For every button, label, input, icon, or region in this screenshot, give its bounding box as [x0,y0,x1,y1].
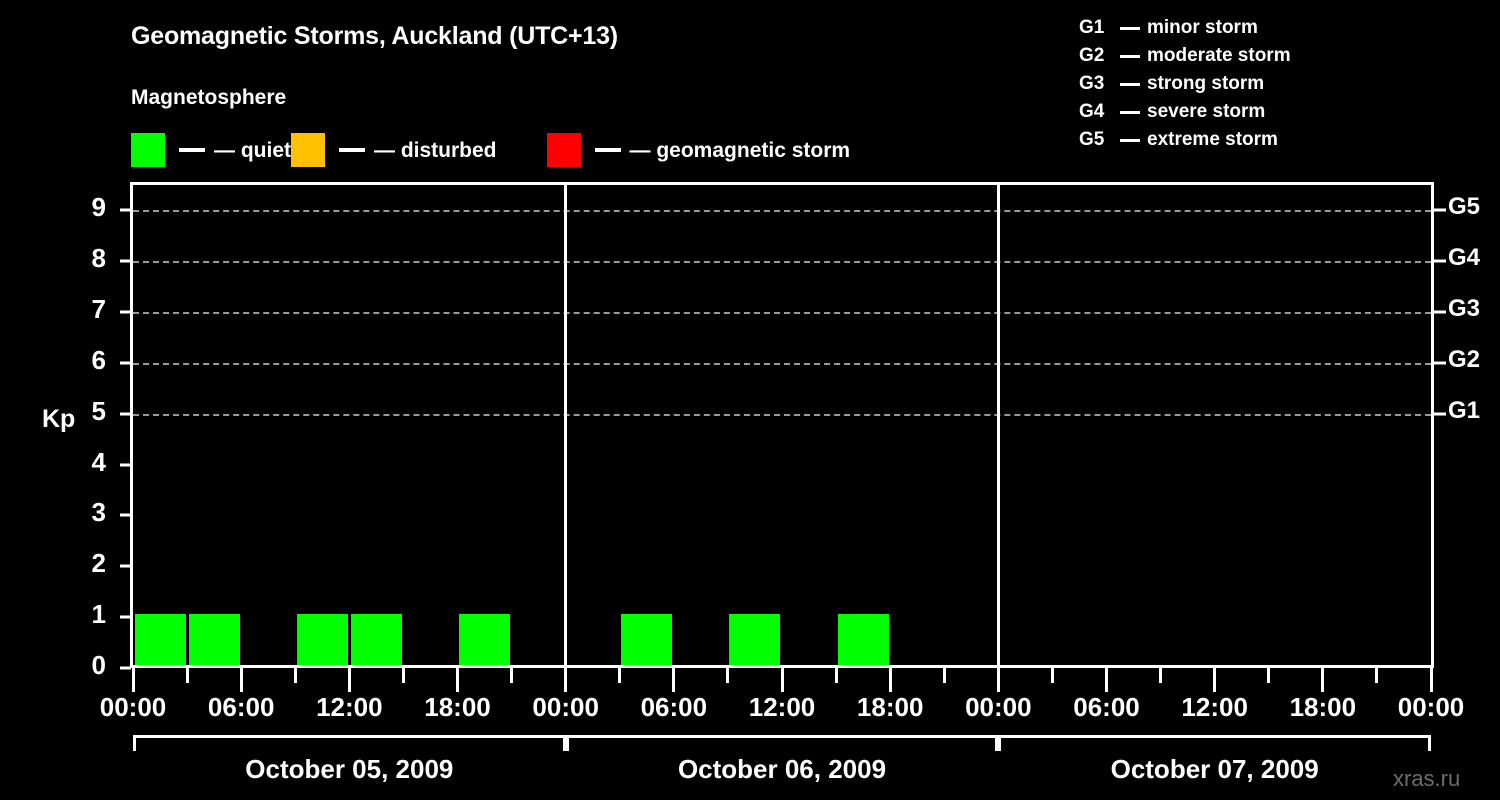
x-tick-label: 00:00 [1398,692,1465,723]
g-tick-mark [1434,260,1446,263]
day-separator [564,185,567,665]
y-tick-label: 7 [92,296,106,322]
y-tick-mark [120,463,131,466]
y-tick-mark [120,514,131,517]
g-scale-legend: G1 minor storm G2 moderate storm G3 stro… [1079,14,1291,154]
legend-dash-icon [595,148,621,152]
legend-item-quiet: — quiet [131,133,291,167]
legend-label-quiet: — quiet [214,140,291,161]
x-tick-mark [186,668,189,683]
x-tick-label: 12:00 [316,692,383,723]
x-tick-mark [240,668,243,692]
g-scale-row: G3 strong storm [1079,70,1291,98]
g-scale-dash-icon [1120,27,1140,30]
x-tick-mark [1159,668,1162,683]
x-tick-mark [618,668,621,683]
y-tick-mark [120,667,131,670]
y-tick-mark [120,260,131,263]
y-tick-label: 0 [92,652,106,678]
g-scale-desc: severe storm [1147,101,1265,123]
gridline [133,414,1431,416]
g-scale-dash-icon [1120,55,1140,58]
x-tick-mark [564,668,567,692]
x-tick-mark [402,668,405,683]
kp-bar [189,614,240,665]
plot-area [133,185,1431,665]
y-tick-mark [120,412,131,415]
x-tick-mark [781,668,784,692]
x-tick-label: 06:00 [208,692,275,723]
g-tick-label: G1 [1448,399,1480,423]
date-bracket [998,735,1431,751]
x-tick-label: 00:00 [100,692,167,723]
page-title: Geomagnetic Storms, Auckland (UTC+13) [131,22,618,51]
x-tick-label: 18:00 [857,692,924,723]
g-scale-dash-icon [1120,111,1140,114]
x-tick-mark [835,668,838,683]
date-bracket [566,735,999,751]
x-tick-label: 00:00 [532,692,599,723]
date-label: October 06, 2009 [678,754,886,785]
kp-bar [838,614,889,665]
g-scale-desc: minor storm [1147,17,1258,39]
x-tick-mark [510,668,513,683]
g-tick-label: G2 [1448,348,1480,372]
g-scale-desc: extreme storm [1147,129,1278,151]
kp-bar [621,614,672,665]
legend-label-disturbed: — disturbed [374,140,497,161]
day-separator [997,185,1000,665]
legend-label-geomagnetic-storm: — geomagnetic storm [630,140,851,161]
gridline [133,363,1431,365]
g-tick-label: G5 [1448,195,1480,219]
y-tick-mark [120,209,131,212]
g-tick-mark [1434,311,1446,314]
y-tick-label: 3 [92,499,106,525]
g-scale-dash-icon [1120,83,1140,86]
x-tick-mark [132,668,135,692]
date-bracket [133,735,566,751]
x-tick-mark [672,668,675,692]
x-tick-mark [1105,668,1108,692]
y-axis-right: G1G2G3G4G5 [1448,182,1500,668]
g-scale-code: G1 [1079,17,1113,39]
legend-dash-icon [339,148,365,152]
g-tick-label: G3 [1448,297,1480,321]
quiet-swatch-icon [131,133,165,167]
y-tick-label: 6 [92,347,106,373]
legend-item-disturbed: — disturbed [291,133,497,167]
g-scale-code: G4 [1079,101,1113,123]
watermark: xras.ru [1393,766,1460,792]
y-tick-label: 5 [92,398,106,424]
g-scale-row: G5 extreme storm [1079,126,1291,154]
x-tick-label: 06:00 [641,692,708,723]
date-label: October 07, 2009 [1111,754,1319,785]
kp-bar [351,614,402,665]
x-tick-mark [456,668,459,692]
g-scale-code: G3 [1079,73,1113,95]
legend-dash-icon [179,148,205,152]
y-axis-title: Kp [42,405,75,434]
date-label: October 05, 2009 [245,754,453,785]
gridline [133,261,1431,263]
x-tick-mark [1430,668,1433,692]
x-tick-mark [1213,668,1216,692]
g-tick-mark [1434,209,1446,212]
x-tick-label: 12:00 [749,692,816,723]
x-tick-label: 12:00 [1181,692,1248,723]
x-tick-mark [1321,668,1324,692]
gridline [133,210,1431,212]
kp-bar [297,614,348,665]
y-tick-mark [120,311,131,314]
x-tick-mark [1267,668,1270,683]
g-tick-mark [1434,361,1446,364]
g-scale-code: G5 [1079,129,1113,151]
x-tick-mark [943,668,946,683]
x-tick-label: 00:00 [965,692,1032,723]
x-tick-mark [348,668,351,692]
y-tick-mark [120,361,131,364]
x-tick-label: 06:00 [1073,692,1140,723]
y-tick-mark [120,616,131,619]
y-tick-label: 1 [92,601,106,627]
x-tick-mark [1051,668,1054,683]
legend-heading: Magnetosphere [131,86,286,110]
geomagnetic-storm-swatch-icon [547,133,581,167]
y-tick-label: 9 [92,194,106,220]
g-scale-desc: moderate storm [1147,45,1291,67]
x-tick-mark [889,668,892,692]
x-tick-mark [294,668,297,683]
legend: — quiet — disturbed — geomagnetic storm [131,133,903,167]
g-scale-row: G2 moderate storm [1079,42,1291,70]
g-scale-row: G1 minor storm [1079,14,1291,42]
y-tick-label: 8 [92,245,106,271]
x-tick-label: 18:00 [1290,692,1357,723]
g-scale-desc: strong storm [1147,73,1264,95]
legend-item-geomagnetic-storm: — geomagnetic storm [547,133,851,167]
y-tick-mark [120,565,131,568]
x-tick-mark [1375,668,1378,683]
x-tick-mark [726,668,729,683]
g-scale-dash-icon [1120,139,1140,142]
kp-bar [459,614,510,665]
y-tick-label: 2 [92,550,106,576]
g-scale-row: G4 severe storm [1079,98,1291,126]
gridline [133,312,1431,314]
y-tick-label: 4 [92,449,106,475]
kp-bar [729,614,780,665]
g-tick-mark [1434,412,1446,415]
g-scale-code: G2 [1079,45,1113,67]
g-tick-label: G4 [1448,246,1480,270]
x-tick-label: 18:00 [424,692,491,723]
x-tick-mark [997,668,1000,692]
kp-bar [135,614,186,665]
disturbed-swatch-icon [291,133,325,167]
